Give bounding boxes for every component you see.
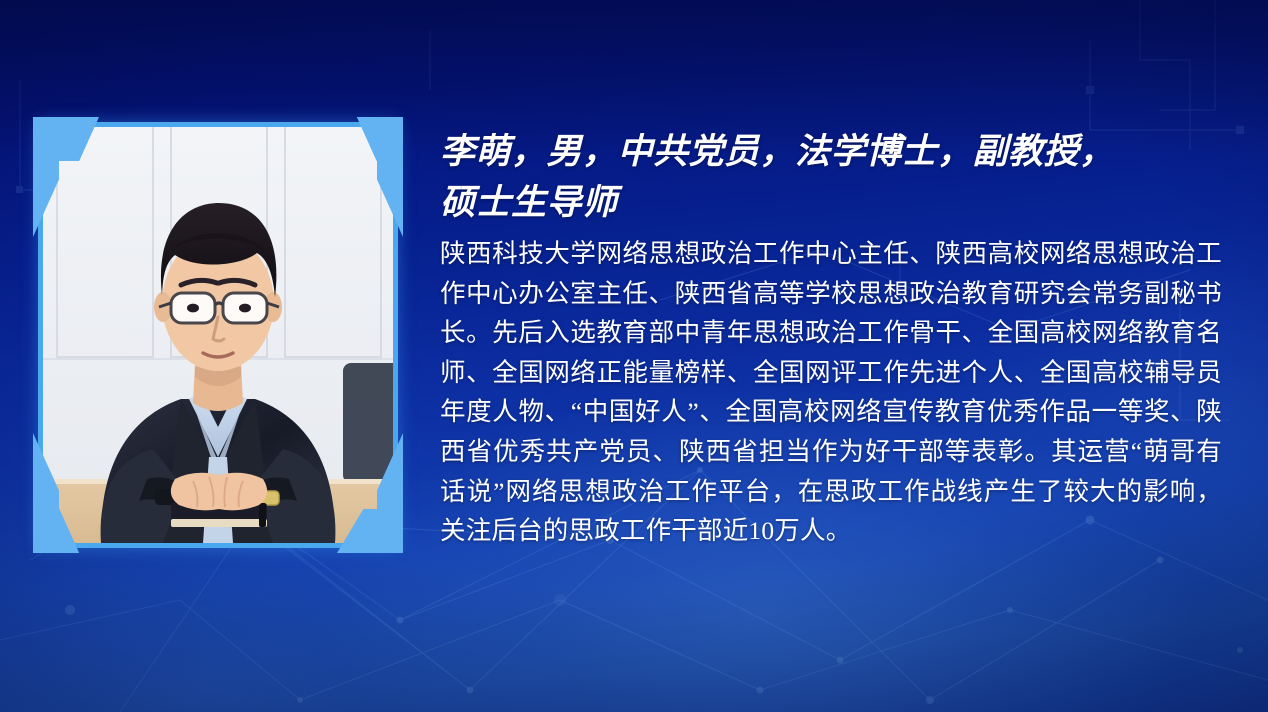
portrait-frame (38, 122, 398, 548)
text-column: 李萌，男，中共党员，法学博士，副教授， 硕士生导师 陕西科技大学网络思想政治工作… (440, 126, 1222, 551)
person-headline: 李萌，男，中共党员，法学博士，副教授， 硕士生导师 (440, 126, 1222, 228)
slide-root: 李萌，男，中共党员，法学博士，副教授， 硕士生导师 陕西科技大学网络思想政治工作… (0, 0, 1268, 712)
portrait-frame-border (38, 122, 398, 548)
person-biography: 陕西科技大学网络思想政治工作中心主任、陕西高校网络思想政治工作中心办公室主任、陕… (440, 234, 1222, 551)
